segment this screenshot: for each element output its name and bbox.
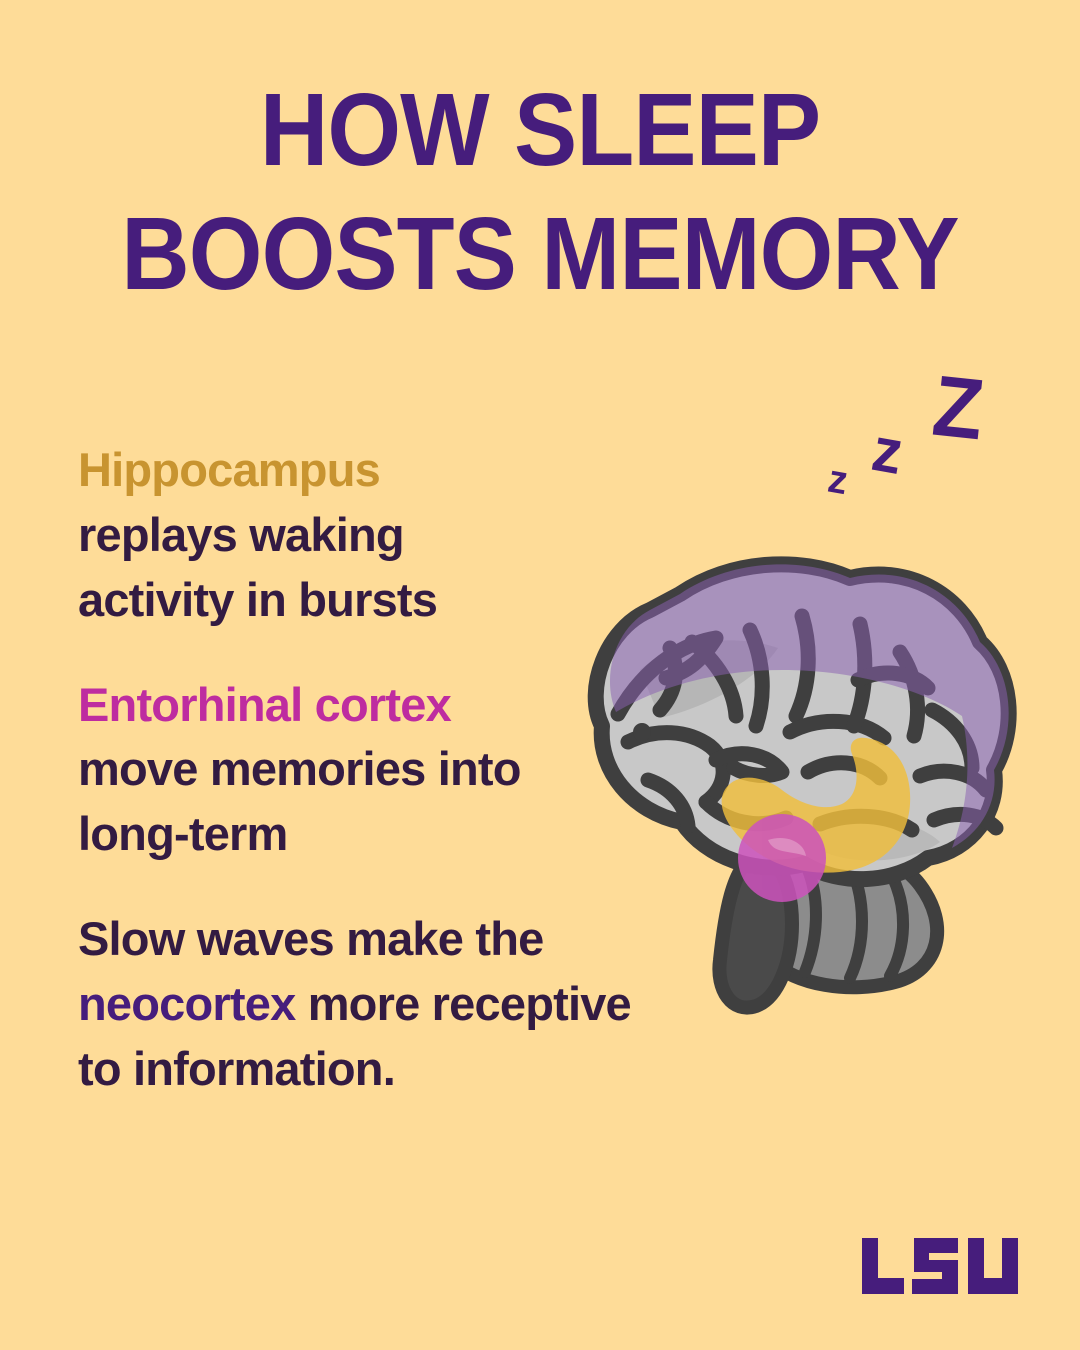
- paragraph-slow-waves-lead: Slow waves make the: [78, 912, 543, 965]
- sleep-z-large-icon: Z: [929, 363, 988, 454]
- sleep-zzz-group: z z Z: [820, 365, 1020, 515]
- fold-dot: [633, 723, 651, 741]
- title-line-2: BOOSTS MEMORY: [43, 204, 1037, 304]
- infographic-poster: HOW SLEEP BOOSTS MEMORY z z Z Hippocampu…: [0, 0, 1080, 1350]
- paragraph-entorhinal: Entorhinal cortex move memories into lon…: [78, 673, 548, 868]
- sleep-z-small-icon: z: [825, 459, 851, 502]
- paragraph-hippocampus-rest: replays waking activity in bursts: [78, 508, 437, 626]
- lsu-letter-l: [862, 1238, 904, 1294]
- entorhinal-cortex-shape: [738, 814, 826, 902]
- brain-diagram-illustration: [520, 520, 1020, 1030]
- term-neocortex: neocortex: [78, 977, 295, 1030]
- lsu-logo-letterforms: [862, 1238, 1018, 1294]
- title-line-1: HOW SLEEP: [43, 80, 1037, 180]
- entorhinal-cortex-highlight-group: [738, 814, 826, 902]
- sleep-z-medium-icon: z: [868, 419, 908, 485]
- page-title: HOW SLEEP BOOSTS MEMORY: [0, 80, 1080, 304]
- lsu-letter-s: [912, 1238, 958, 1294]
- lsu-logo: [862, 1238, 1018, 1294]
- paragraph-hippocampus: Hippocampus replays waking activity in b…: [78, 438, 508, 633]
- term-hippocampus: Hippocampus: [78, 443, 380, 496]
- term-entorhinal-cortex: Entorhinal cortex: [78, 678, 451, 731]
- paragraph-entorhinal-rest: move memories into long-term: [78, 742, 521, 860]
- lsu-letter-u: [968, 1238, 1018, 1294]
